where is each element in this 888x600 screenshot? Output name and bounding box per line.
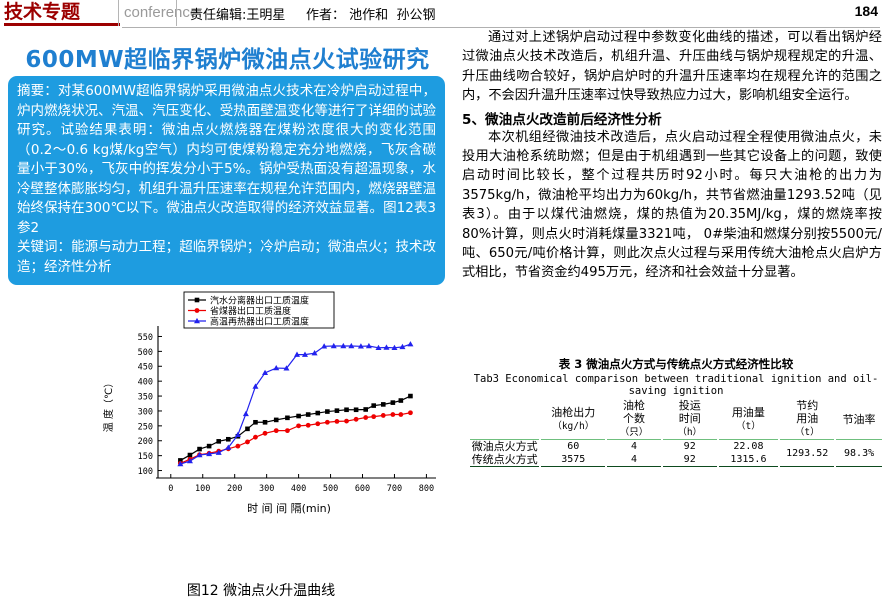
y-tick-label: 200	[138, 437, 153, 447]
cell-output-oil-saving: 60	[540, 440, 606, 453]
data-point	[197, 447, 202, 452]
th-oil-used: 用油量 （t）	[718, 399, 780, 440]
th-saving-rate: 节油率	[835, 399, 883, 440]
data-point	[408, 410, 413, 415]
cell-oilused-oil-saving: 22.08	[718, 440, 780, 453]
data-point	[296, 414, 301, 419]
y-tick-label: 500	[138, 348, 153, 358]
right-column: 通过对上述锅炉启动过程中参数变化曲线的描述，可以看出锅炉经过微油点火技术改造后，…	[462, 28, 882, 283]
data-point	[245, 427, 250, 432]
cell-count-oil-saving: 4	[606, 440, 662, 453]
header-divider-1	[118, 0, 119, 26]
page-header: 技术专题 conference 责任编辑:王明星 作者： 池作和 孙公钢 184	[0, 0, 888, 28]
data-point	[263, 420, 268, 425]
data-point	[371, 403, 376, 408]
section-badge: 技术专题	[4, 1, 80, 23]
data-point	[363, 415, 368, 420]
data-point	[195, 298, 200, 303]
data-point	[344, 419, 349, 424]
paragraph-conclusion: 通过对上述锅炉启动过程中参数变化曲线的描述，可以看出锅炉经过微油点火技术改造后，…	[462, 28, 882, 106]
data-point	[398, 412, 403, 417]
row-label-traditional: 传统点火方式	[469, 453, 540, 467]
data-point	[274, 428, 279, 433]
data-point	[188, 453, 193, 458]
data-point	[216, 439, 221, 444]
x-tick-label: 700	[387, 484, 402, 494]
x-tick-label: 100	[195, 484, 210, 494]
cell-count-traditional: 4	[606, 453, 662, 467]
data-point	[235, 444, 240, 449]
y-tick-label: 250	[138, 422, 153, 432]
th-blank	[469, 399, 540, 440]
cell-hours-traditional: 92	[662, 453, 718, 467]
x-axis-label: 时 间 间 隔(min)	[247, 502, 331, 515]
series-line	[180, 413, 410, 464]
y-tick-label: 450	[138, 363, 153, 373]
conference-label: conference	[124, 4, 198, 21]
legend-label: 汽水分离器出口工质温度	[210, 294, 309, 306]
economics-table-block: 表 3 微油点火方式与传统点火方式经济性比较 Tab3 Economical c…	[468, 356, 884, 467]
data-point	[381, 402, 386, 407]
table-header-row: 油枪出力 （kg/h） 油枪 个数 （只） 投运 时间 （h） 用油量 （t）	[469, 399, 883, 440]
data-point	[407, 341, 413, 346]
data-point	[335, 408, 340, 413]
left-column: 600MW超临界锅炉微油点火试验研究 摘要：对某600MW超临界锅炉采用微油点火…	[0, 30, 455, 588]
data-point	[408, 394, 413, 399]
section-badge-underline	[4, 23, 120, 26]
data-point	[325, 420, 330, 425]
data-point	[285, 428, 290, 433]
data-point	[243, 411, 249, 416]
abstract-box: 摘要：对某600MW超临界锅炉采用微油点火技术在冷炉启动过程中，炉内燃烧状况、汽…	[8, 76, 445, 285]
x-tick-label: 400	[291, 484, 306, 494]
data-point	[325, 409, 330, 414]
data-point	[344, 407, 349, 412]
x-tick-label: 300	[259, 484, 274, 494]
data-point	[195, 308, 200, 313]
keywords-text: 关键词：能源与动力工程；超临界锅炉；冷炉启动；微油点火；技术改造；经济性分析	[17, 238, 436, 277]
y-tick-label: 400	[138, 378, 153, 388]
header-byline: 责任编辑:王明星 作者： 池作和 孙公钢	[190, 4, 435, 23]
data-point	[354, 407, 359, 412]
data-point	[315, 421, 320, 426]
data-point	[253, 420, 258, 425]
data-point	[390, 412, 395, 417]
section-heading-economics: 5、微油点火改造前后经济性分析	[462, 108, 882, 128]
data-point	[263, 431, 268, 436]
y-tick-label: 350	[138, 392, 153, 402]
row-label-oil-saving: 微油点火方式	[469, 440, 540, 453]
y-tick-label: 150	[138, 452, 153, 462]
th-oil-saved: 节约 用油 （t）	[779, 399, 835, 440]
chart-svg: 1001502002503003504004505005500100200300…	[96, 288, 446, 538]
figure-caption: 图12 微油点火升温曲线	[96, 580, 426, 600]
cell-oilused-traditional: 1315.6	[718, 453, 780, 467]
economics-table: 油枪出力 （kg/h） 油枪 个数 （只） 投运 时间 （h） 用油量 （t）	[468, 399, 884, 467]
y-axis-label: 温 度（℃）	[102, 378, 115, 432]
paragraph-economics: 本次机组经微油技术改造后，点火启动过程全程使用微油点火，未投用大油枪系统助燃；但…	[462, 128, 882, 283]
data-point	[306, 412, 311, 417]
table-title-cn: 表 3 微油点火方式与传统点火方式经济性比较	[468, 356, 884, 372]
data-point	[363, 407, 368, 412]
data-point	[245, 440, 250, 445]
y-tick-label: 100	[138, 467, 153, 477]
abstract-text: 摘要：对某600MW超临界锅炉采用微油点火技术在冷炉启动过程中，炉内燃烧状况、汽…	[17, 82, 436, 238]
temperature-curve-chart: 1001502002503003504004505005500100200300…	[96, 288, 446, 538]
data-point	[381, 413, 386, 418]
table-bottom-rule	[469, 467, 883, 468]
page-number: 184	[855, 3, 878, 19]
table-title-en: Tab3 Economical comparison between tradi…	[468, 373, 884, 397]
data-point	[315, 411, 320, 416]
data-point	[312, 350, 318, 355]
legend-label: 高温再热器出口工质温度	[210, 315, 309, 327]
cell-oil-saved: 1293.52	[779, 440, 835, 467]
th-gun-output: 油枪出力 （kg/h）	[540, 399, 606, 440]
article-title: 600MW超临界锅炉微油点火试验研究	[0, 40, 455, 74]
x-tick-label: 200	[227, 484, 242, 494]
header-divider-2	[176, 0, 177, 26]
cell-output-traditional: 3575	[540, 453, 606, 467]
data-point	[354, 417, 359, 422]
y-tick-label: 550	[138, 333, 153, 343]
data-point	[226, 437, 231, 442]
x-tick-label: 600	[355, 484, 370, 494]
data-point	[296, 423, 301, 428]
x-tick-label: 500	[323, 484, 338, 494]
cell-hours-oil-saving: 92	[662, 440, 718, 453]
table-row: 微油点火方式 60 4 92 22.08 1293.52 98.3%	[469, 440, 883, 453]
legend-label: 省煤器出口工质温度	[210, 305, 291, 317]
data-point	[371, 414, 376, 419]
th-run-time: 投运 时间 （h）	[662, 399, 718, 440]
data-point	[391, 400, 396, 405]
th-gun-count: 油枪 个数 （只）	[606, 399, 662, 440]
y-tick-label: 300	[138, 407, 153, 417]
data-point	[335, 419, 340, 424]
cell-saving-rate: 98.3%	[835, 440, 883, 467]
series-2	[177, 341, 413, 466]
series-1	[178, 410, 413, 465]
x-tick-label: 800	[419, 484, 434, 494]
data-point	[253, 435, 258, 440]
data-point	[399, 398, 404, 403]
data-point	[306, 423, 311, 428]
data-point	[207, 444, 212, 449]
data-point	[285, 416, 290, 421]
x-tick-label: 0	[168, 484, 173, 494]
data-point	[274, 418, 279, 423]
